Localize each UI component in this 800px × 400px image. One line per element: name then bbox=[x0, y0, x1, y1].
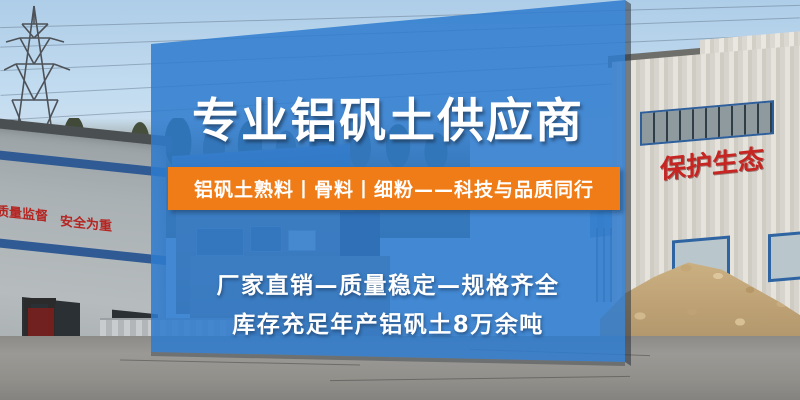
tagline-banner: 铝矾土熟料丨骨料丨细粉——科技与品质同行 bbox=[168, 167, 620, 210]
banner-content: 专业铝矾土供应商 铝矾土熟料丨骨料丨细粉——科技与品质同行 厂家直销—质量稳定—… bbox=[151, 0, 625, 400]
banner-image: 质量监督 安全为重 保护生态 bbox=[0, 0, 800, 400]
tagline-text: 铝矾土熟料丨骨料丨细粉——科技与品质同行 bbox=[194, 175, 594, 202]
subline-1: 厂家直销—质量稳定—规格齐全 bbox=[151, 266, 625, 300]
subline-2: 库存充足年产铝矾土8万余吨 bbox=[151, 305, 625, 339]
headline-text: 专业铝矾土供应商 bbox=[151, 82, 625, 151]
